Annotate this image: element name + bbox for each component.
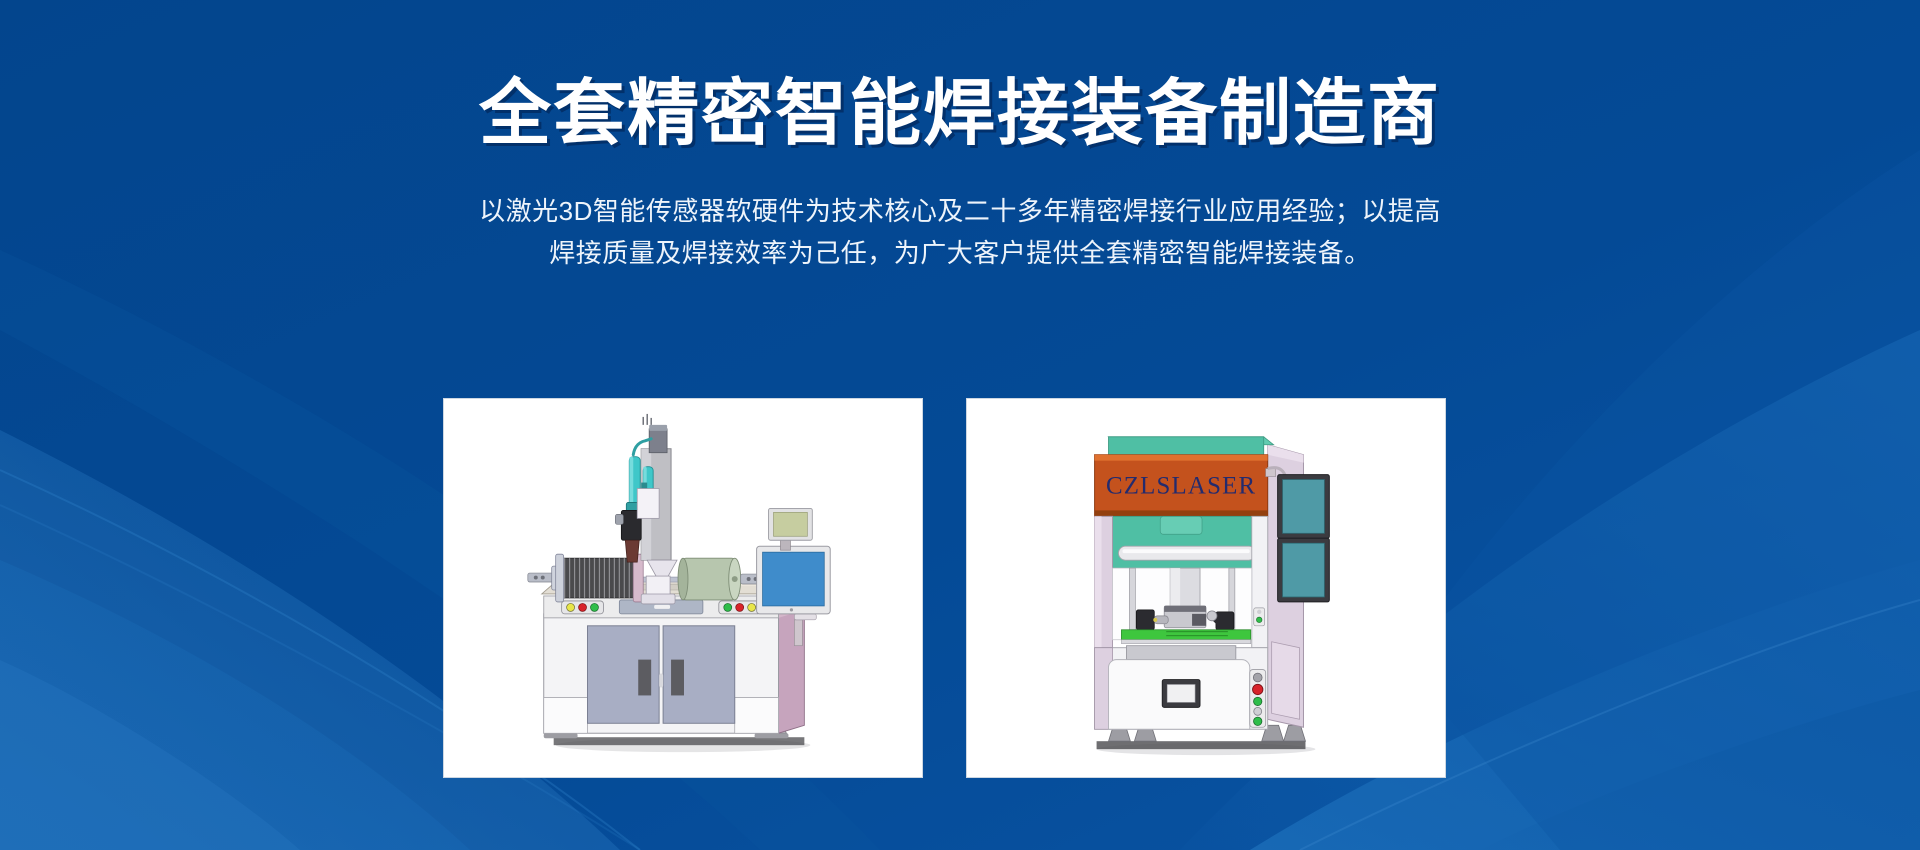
product-image-2: CZLSLASER bbox=[967, 399, 1445, 777]
product-card-precision-welding-workstation[interactable] bbox=[443, 398, 923, 778]
page-title: 全套精密智能焊接装备制造商 bbox=[0, 78, 1920, 150]
hero-subtitle: 以激光3D智能传感器软硬件为技术核心及二十多年精密焊接行业应用经验；以提高 焊接… bbox=[405, 190, 1515, 274]
brand-label-czlslaser: CZLSLASER bbox=[1106, 473, 1256, 500]
product-card-czlslaser-welding-cell[interactable]: CZLSLASER bbox=[966, 398, 1446, 778]
hero-text-block: 全套精密智能焊接装备制造商 以激光3D智能传感器软硬件为技术核心及二十多年精密焊… bbox=[0, 0, 1920, 274]
hero-subtitle-line-2: 焊接质量及焊接效率为己任，为广大客户提供全套精密智能焊接装备。 bbox=[405, 232, 1515, 274]
hero-subtitle-line-1: 以激光3D智能传感器软硬件为技术核心及二十多年精密焊接行业应用经验；以提高 bbox=[479, 196, 1441, 226]
hero-banner: 全套精密智能焊接装备制造商 以激光3D智能传感器软硬件为技术核心及二十多年精密焊… bbox=[0, 0, 1920, 850]
product-image-1 bbox=[444, 399, 922, 777]
product-card-list: CZLSLASER bbox=[443, 398, 1446, 778]
